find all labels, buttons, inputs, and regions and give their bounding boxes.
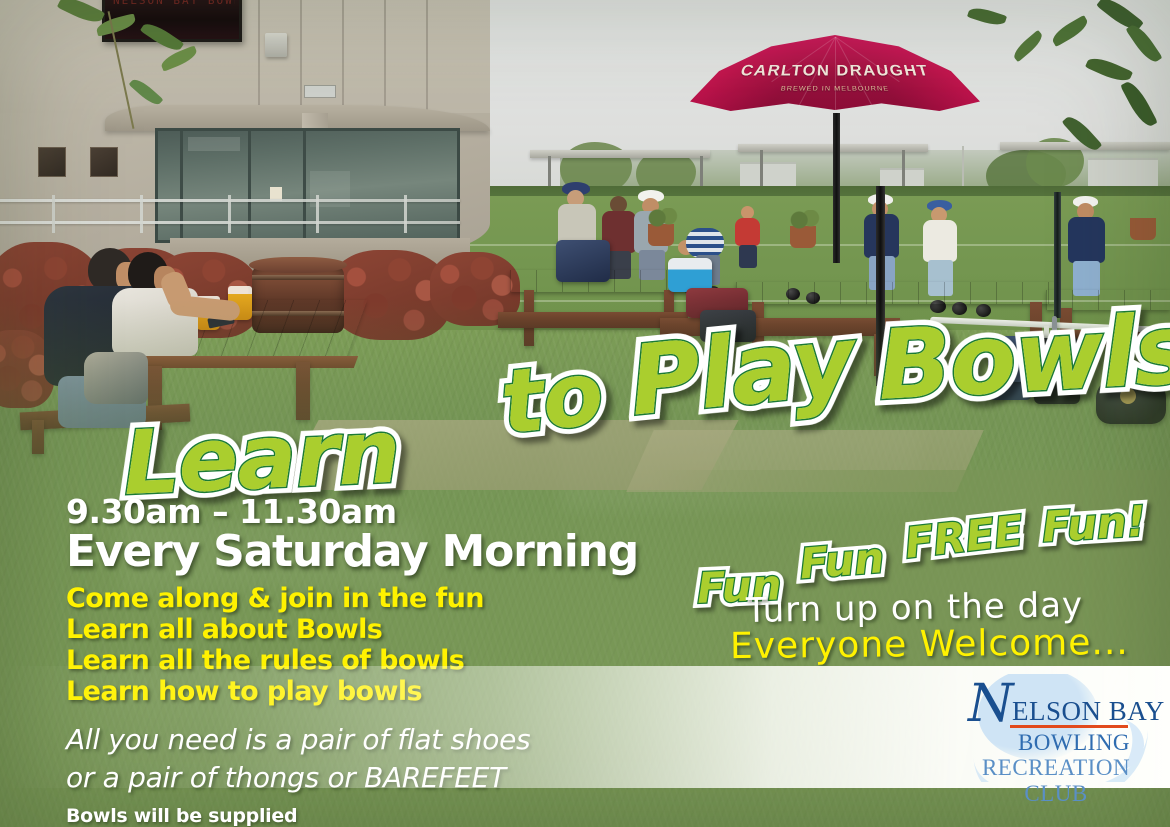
- planter-foliage: [642, 208, 680, 228]
- foreground-table-leg: [296, 362, 310, 420]
- air-conditioner-unit: [304, 85, 336, 98]
- logo-name-nelson-bay: ELSON BAY: [1012, 696, 1165, 727]
- bowler-person: [1066, 196, 1108, 296]
- building-upper-facade: [0, 0, 490, 113]
- umbrella-pole: [833, 113, 840, 263]
- cooler-box: [668, 258, 712, 292]
- bowls-bag-navy-pocket: [994, 358, 1024, 382]
- railing-post: [140, 195, 143, 233]
- logo-red-rule: [1010, 725, 1128, 728]
- bench-seat: [660, 318, 900, 336]
- lawn-bowl: [976, 304, 991, 317]
- logo-initial-n: N: [968, 678, 1014, 730]
- carlton-draught-umbrella: CARLTON DRAUGHT BREWED IN MELBOURNE: [690, 35, 980, 155]
- bowler-torso: [735, 218, 760, 246]
- wall-plaque: [90, 147, 118, 177]
- paving-strip: [626, 430, 984, 492]
- lawn-light-patch: [120, 520, 420, 590]
- wall-plaque: [38, 147, 66, 177]
- railing-post: [52, 195, 55, 233]
- railing-post: [228, 195, 231, 233]
- shade-structure-roof: [530, 150, 710, 158]
- bowler-torso: [1068, 217, 1105, 263]
- bowler-torso: [686, 228, 724, 258]
- facade-seam: [300, 0, 302, 113]
- kit-bag-dark: [700, 310, 756, 342]
- bench-table-top: [736, 282, 1056, 304]
- umbrella-brand-label: CARLTON DRAUGHT: [738, 62, 931, 79]
- luggage-handle: [1052, 316, 1057, 340]
- luggage-black: [1034, 338, 1080, 404]
- ramp-railing: [0, 195, 460, 235]
- kit-bag-navy: [556, 240, 610, 282]
- facade-seam: [258, 0, 260, 113]
- logo-line-bowling: BOWLING: [1008, 730, 1140, 756]
- bag-on-bench: [84, 352, 148, 404]
- glass-reflection: [188, 137, 240, 151]
- umbrella-brand-text: CARLTON DRAUGHT BREWED IN MELBOURNE: [681, 63, 989, 97]
- logo-line-recreation-club: RECREATION CLUB: [970, 755, 1142, 807]
- facade-seam: [426, 0, 428, 113]
- bowler-person: [734, 206, 762, 268]
- railing-post: [404, 195, 407, 233]
- railing-post: [316, 195, 319, 233]
- clubhouse-building: NELSON BAY BOWLING CLUB: [0, 0, 490, 263]
- led-sign-text: NELSON BAY BOWLING CLUB: [113, 0, 235, 7]
- bowler-legs: [739, 245, 757, 268]
- facade-seam: [342, 0, 344, 113]
- wall-lamp-icon: [265, 33, 287, 57]
- bowls-bag-badge: [1120, 388, 1136, 404]
- barrel-hoop: [252, 275, 344, 280]
- distant-house: [740, 162, 796, 188]
- poster-root: NELSON BAY BOWLING CLUB: [0, 0, 1170, 827]
- shade-post: [876, 186, 885, 386]
- umbrella-tagline: BREWED IN MELBOURNE: [681, 81, 989, 98]
- planter-foliage: [784, 210, 822, 230]
- bowler-torso: [923, 220, 957, 262]
- bench-table-top: [1046, 290, 1170, 310]
- bench-seat-leg: [676, 334, 686, 378]
- flower-planter: [1130, 218, 1156, 240]
- shade-post: [1054, 192, 1061, 318]
- barrel-top: [249, 257, 347, 273]
- facade-seam: [384, 0, 386, 113]
- club-logo: N ELSON BAY BOWLING RECREATION CLUB: [952, 672, 1152, 784]
